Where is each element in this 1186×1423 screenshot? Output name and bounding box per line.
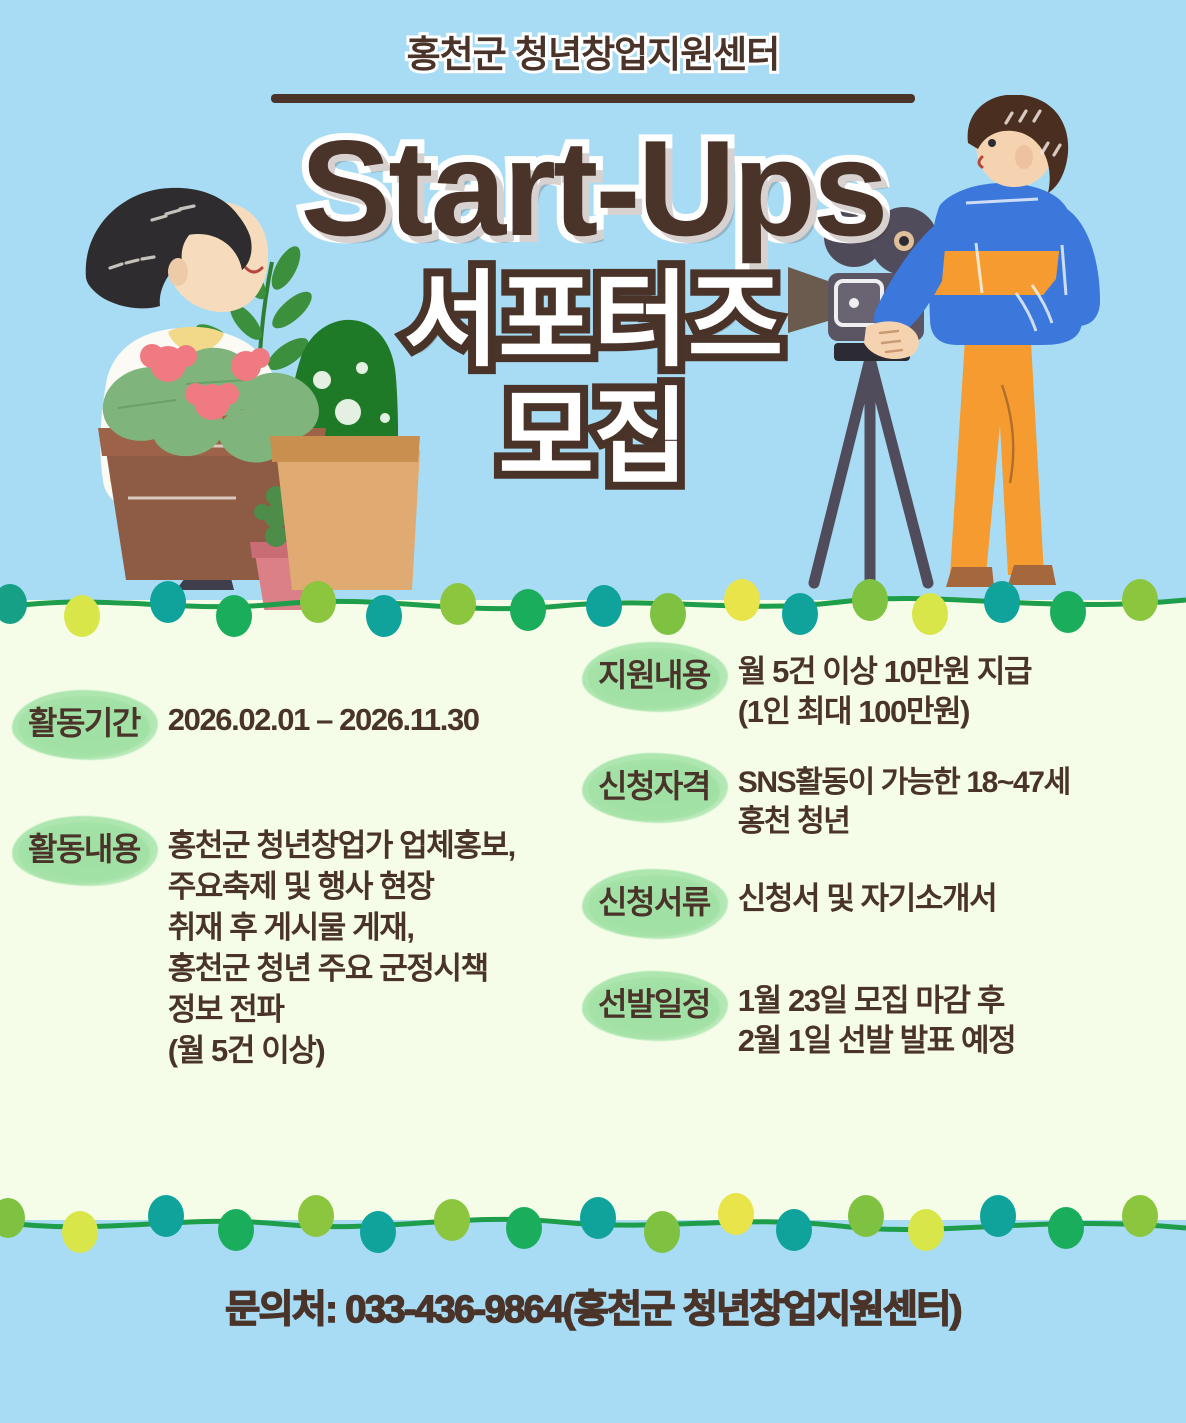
header-divider-rule: [271, 94, 915, 103]
info-section: 활동기간 2026.02.01 – 2026.11.30 활동내용 홍천군 청년…: [0, 640, 1186, 1200]
center-name: 홍천군 청년창업지원센터: [407, 24, 780, 78]
poster-root: 홍천군 청년창업지원센터 Start-Ups 서포터즈 모집: [0, 0, 1186, 1423]
info-row-activity-period: 활동기간 2026.02.01 – 2026.11.30: [14, 688, 574, 756]
value-activity-period: 2026.02.01 – 2026.11.30: [168, 688, 574, 740]
label-selection-schedule: 선발일정: [584, 969, 724, 1037]
label-documents: 신청서류: [584, 867, 724, 935]
value-activity-content: 홍천군 청년창업가 업체홍보, 주요축제 및 행사 현장 취재 후 게시물 게재…: [168, 814, 574, 1071]
value-documents: 신청서 및 자기소개서: [738, 867, 1184, 919]
label-activity-period: 활동기간: [14, 688, 154, 756]
contact-info: 문의처: 033-436-9864(홍천군 청년창업지원센터): [225, 1289, 961, 1331]
info-column-left: 활동기간 2026.02.01 – 2026.11.30 활동내용 홍천군 청년…: [14, 688, 574, 1097]
label-eligibility: 신청자격: [584, 751, 724, 819]
info-column-right: 지원내용 월 5건 이상 10만원 지급 (1인 최대 100만원) 신청자격 …: [584, 640, 1184, 1087]
value-selection-schedule: 1월 23일 모집 마감 후 2월 1일 선발 발표 예정: [738, 969, 1184, 1062]
value-support-content: 월 5건 이상 10만원 지급 (1인 최대 100만원): [738, 640, 1184, 733]
title-line-startups: Start-Ups: [0, 118, 1186, 259]
poster-title: Start-Ups 서포터즈 모집: [0, 118, 1186, 496]
footer: 문의처: 033-436-9864(홍천군 청년창업지원센터): [0, 1278, 1186, 1333]
info-row-documents: 신청서류 신청서 및 자기소개서: [584, 867, 1184, 935]
info-row-activity-content: 활동내용 홍천군 청년창업가 업체홍보, 주요축제 및 행사 현장 취재 후 게…: [14, 814, 574, 1071]
title-line-recruit: 모집: [0, 380, 1186, 496]
label-support-content: 지원내용: [584, 640, 724, 708]
label-activity-content: 활동내용: [14, 814, 154, 882]
garland-divider-bottom: [0, 1188, 1186, 1258]
info-row-eligibility: 신청자격 SNS활동이 가능한 18~47세 홍천 청년: [584, 751, 1184, 841]
title-line-supporters: 서포터즈: [0, 263, 1186, 379]
garland-divider-top: [0, 570, 1186, 640]
value-eligibility: SNS활동이 가능한 18~47세 홍천 청년: [738, 751, 1184, 841]
header: 홍천군 청년창업지원센터: [0, 24, 1186, 78]
info-row-support: 지원내용 월 5건 이상 10만원 지급 (1인 최대 100만원): [584, 640, 1184, 733]
info-row-schedule: 선발일정 1월 23일 모집 마감 후 2월 1일 선발 발표 예정: [584, 969, 1184, 1062]
